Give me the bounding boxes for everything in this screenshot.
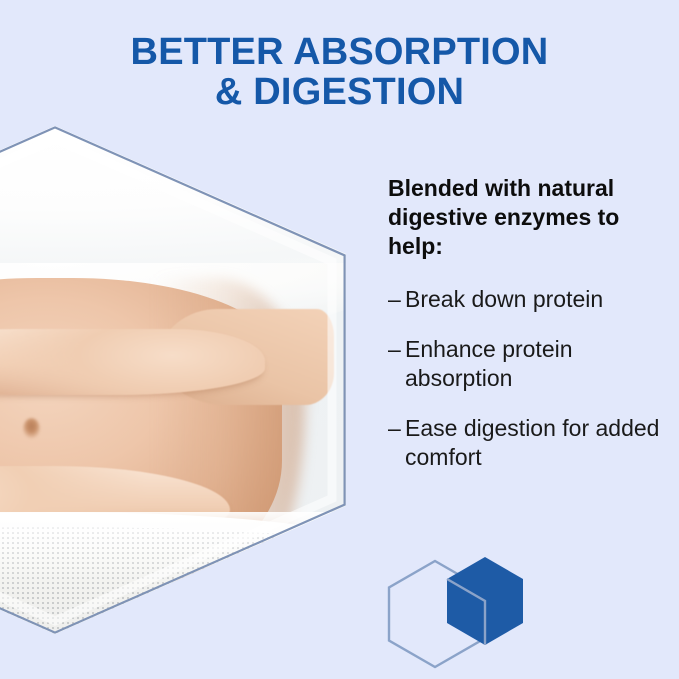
list-item-label: Break down protein — [405, 285, 660, 314]
title-line-1: BETTER ABSORPTION — [0, 32, 679, 72]
list-item: – Ease digestion for added comfort — [388, 414, 660, 471]
bullet-dash-icon: – — [388, 335, 405, 364]
list-item-label: Enhance protein absorption — [405, 335, 660, 392]
list-item: – Enhance protein absorption — [388, 335, 660, 392]
benefits-list: – Break down protein – Enhance protein a… — [388, 285, 660, 472]
product-benefit-photo — [0, 126, 346, 634]
list-item: – Break down protein — [388, 285, 660, 314]
photo-vignette — [0, 126, 346, 634]
benefits-copy: Blended with natural digestive enzymes t… — [388, 174, 660, 471]
bullet-dash-icon: – — [388, 285, 405, 314]
benefits-subhead: Blended with natural digestive enzymes t… — [388, 174, 660, 261]
bullet-dash-icon: – — [388, 414, 405, 443]
page-title: BETTER ABSORPTION & DIGESTION — [0, 32, 679, 113]
list-item-label: Ease digestion for added comfort — [405, 414, 660, 471]
title-line-2: & DIGESTION — [0, 72, 679, 112]
decorative-hexagons — [383, 547, 543, 679]
poster-canvas: BETTER ABSORPTION & DIGESTION Blended wi… — [0, 0, 679, 679]
